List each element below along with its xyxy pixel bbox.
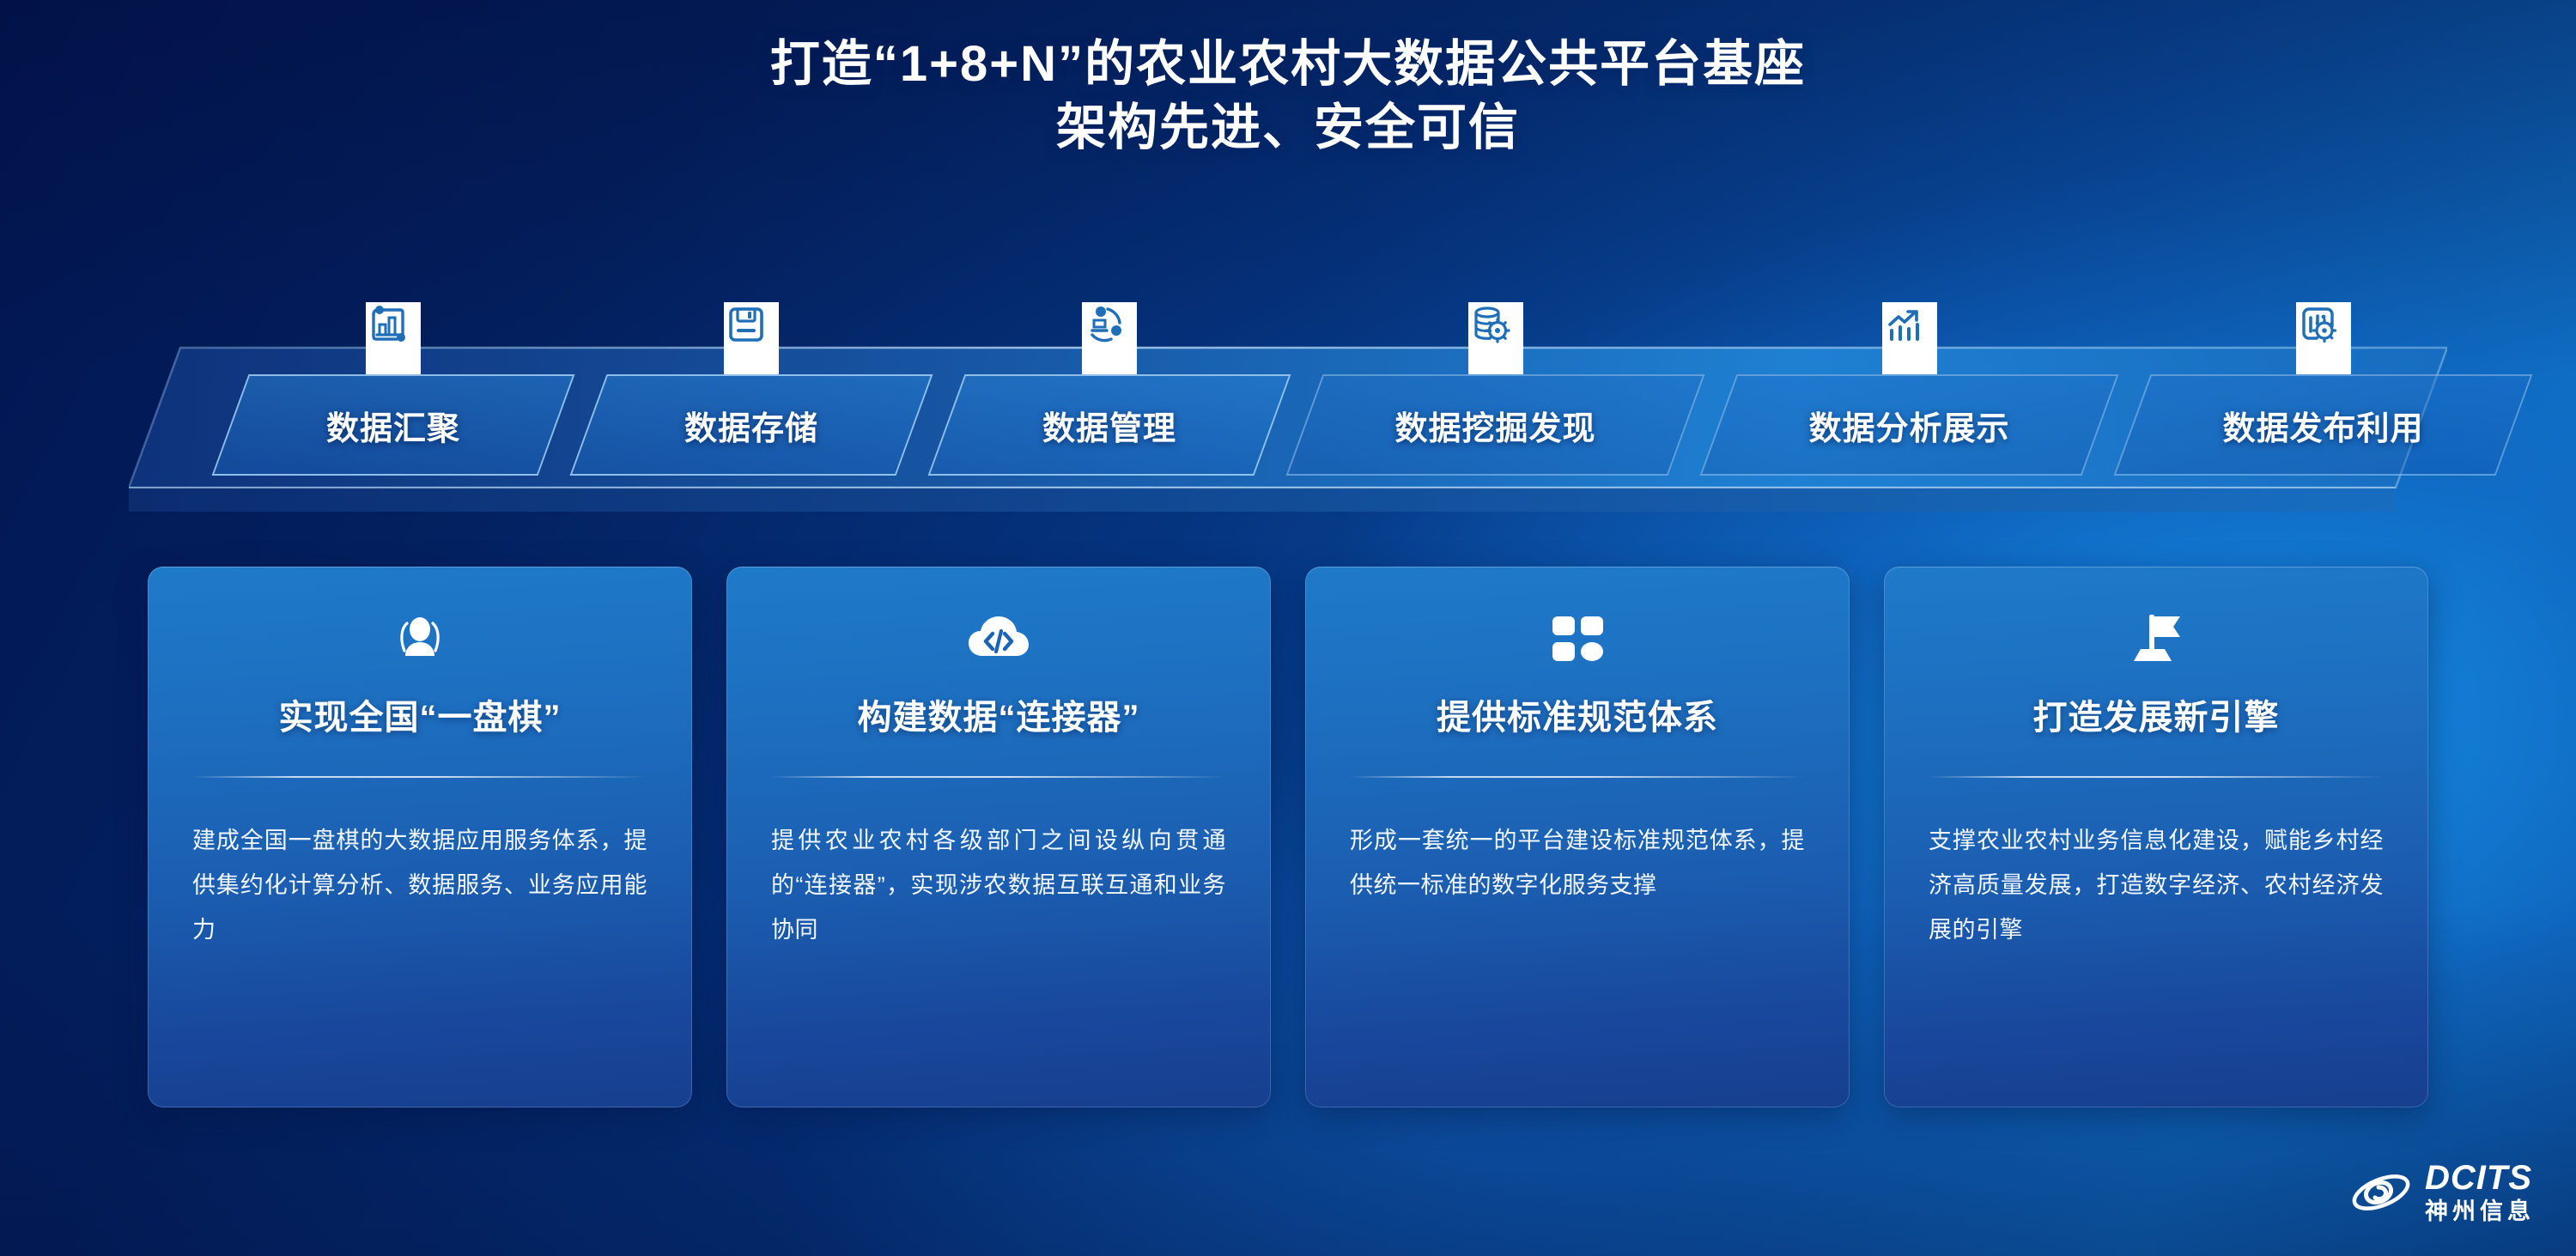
stage-label: 数据分析展示 — [1718, 374, 2100, 476]
stage-label: 数据管理 — [946, 374, 1273, 476]
card-divider — [192, 776, 647, 778]
bar-chart-frame-icon — [366, 302, 421, 374]
users-icon — [192, 604, 647, 675]
pipeline-stage-1[interactable]: 数据汇聚 — [230, 374, 556, 476]
stage-label: 数据发布利用 — [2132, 374, 2514, 476]
pipeline-stage-4[interactable]: 数据挖掘发现 — [1304, 374, 1686, 476]
logo-name-en: DCITS — [2425, 1161, 2535, 1195]
logo-name-cn: 神州信息 — [2425, 1200, 2535, 1223]
stage-label: 数据汇聚 — [230, 374, 556, 476]
pipeline-stage-3[interactable]: 数据管理 — [946, 374, 1273, 476]
page-title: 打造“1+8+N”的农业农村大数据公共平台基座 架构先进、安全可信 — [0, 33, 2576, 160]
pipeline-stage-6[interactable]: 数据发布利用 — [2132, 374, 2514, 476]
card-title: 提供标准规范体系 — [1350, 697, 1805, 738]
card-title: 实现全国“一盘棋” — [192, 697, 647, 738]
card-divider — [1929, 776, 2384, 778]
data-governance-circle-icon — [1082, 302, 1137, 374]
dcits-logo: DCITS 神州信息 — [2349, 1161, 2535, 1223]
feature-card-3[interactable]: 提供标准规范体系 形成一套统一的平台建设标准规范体系，提供统一标准的数字化服务支… — [1305, 567, 1850, 1107]
dcits-orbit-icon — [2349, 1167, 2413, 1218]
pipeline-stage-2[interactable]: 数据存储 — [588, 374, 914, 476]
card-body: 形成一套统一的平台建设标准规范体系，提供统一标准的数字化服务支撑 — [1350, 819, 1805, 908]
title-line-1: 打造“1+8+N”的农业农村大数据公共平台基座 — [0, 33, 2576, 96]
cloud-code-icon — [771, 604, 1226, 675]
feature-card-4[interactable]: 打造发展新引擎 支撑农业农村业务信息化建设，赋能乡村经济高质量发展，打造数字经济… — [1884, 567, 2428, 1107]
card-divider — [771, 776, 1226, 778]
feature-card-1[interactable]: 实现全国“一盘棋” 建成全国一盘棋的大数据应用服务体系，提供集约化计算分析、数据… — [148, 567, 692, 1107]
card-title: 构建数据“连接器” — [771, 697, 1226, 738]
floppy-disk-icon — [724, 302, 779, 374]
grid-modules-icon — [1350, 604, 1805, 675]
database-gear-icon — [1468, 302, 1523, 374]
feature-card-2[interactable]: 构建数据“连接器” 提供农业农村各级部门之间设纵向贯通的“连接器”，实现涉农数据… — [726, 567, 1271, 1107]
pipeline-stage-5[interactable]: 数据分析展示 — [1718, 374, 2100, 476]
trend-bar-chart-icon — [1882, 302, 1937, 374]
panel-gear-icon — [2296, 302, 2351, 374]
pipeline-band: 数据汇聚 数据存储 数据管理 — [129, 343, 2447, 515]
feature-cards: 实现全国“一盘棋” 建成全国一盘棋的大数据应用服务体系，提供集约化计算分析、数据… — [148, 567, 2428, 1107]
card-divider — [1350, 776, 1805, 778]
card-body: 支撑农业农村业务信息化建设，赋能乡村经济高质量发展，打造数字经济、农村经济发展的… — [1929, 819, 2384, 952]
stage-label: 数据存储 — [588, 374, 914, 476]
title-line-2: 架构先进、安全可信 — [0, 96, 2576, 160]
card-body: 提供农业农村各级部门之间设纵向贯通的“连接器”，实现涉农数据互联互通和业务协同 — [771, 819, 1226, 952]
card-body: 建成全国一盘棋的大数据应用服务体系，提供集约化计算分析、数据服务、业务应用能力 — [192, 819, 647, 952]
flag-icon — [1929, 604, 2384, 675]
card-title: 打造发展新引擎 — [1929, 697, 2384, 738]
stage-label: 数据挖掘发现 — [1304, 374, 1686, 476]
